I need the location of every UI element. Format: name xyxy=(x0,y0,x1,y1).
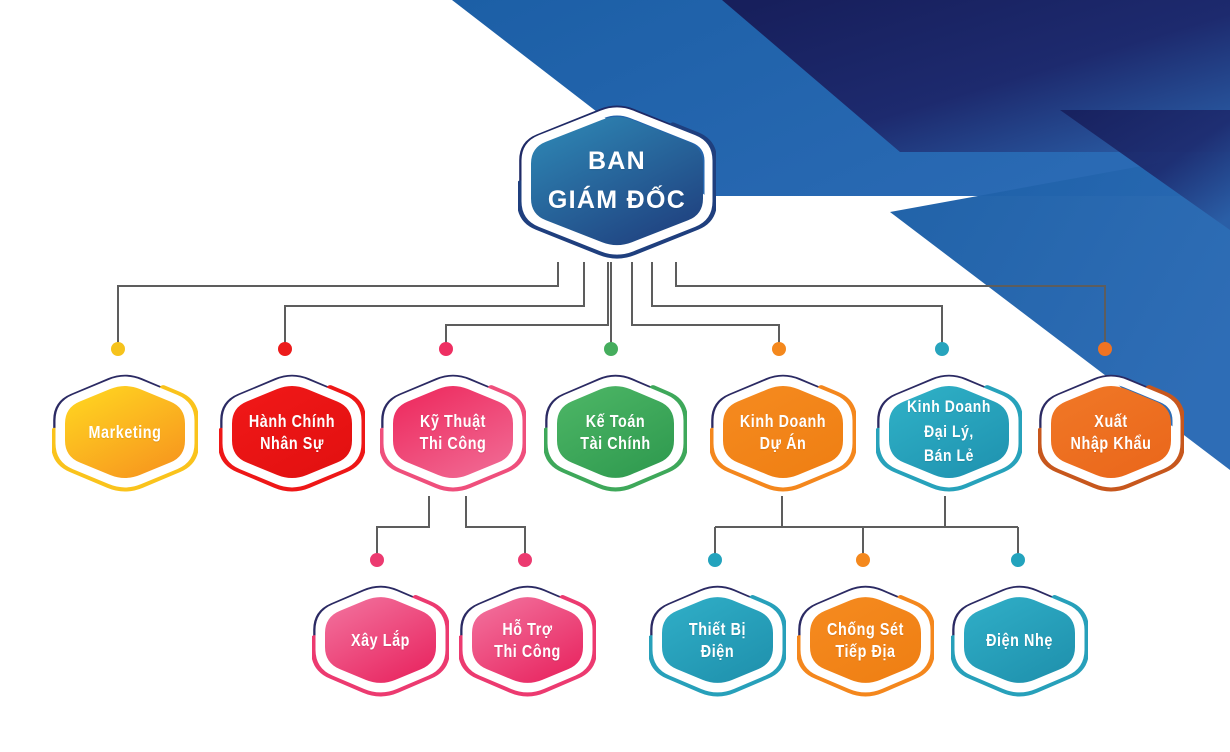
wire-root-hanh-chinh xyxy=(285,262,584,349)
hexagon-shape xyxy=(380,370,526,494)
wire-kythuat-xay-lap xyxy=(377,496,429,560)
org-node-thiet-bi-dien[interactable]: Thiết BịĐiện xyxy=(649,581,786,699)
hexagon-fill xyxy=(65,386,185,478)
wire-kythuat-ho-tro xyxy=(466,496,525,560)
wires-level2 xyxy=(118,262,1105,349)
org-node-ho-tro-thi-cong[interactable]: Hỗ TrợThi Công xyxy=(459,581,596,699)
hexagon-shape xyxy=(876,370,1022,494)
connector-dot-ke-toan-tai-chinh xyxy=(604,342,618,356)
connector-dot-ky-thuat-thi-cong xyxy=(439,342,453,356)
org-node-marketing[interactable]: Marketing xyxy=(52,370,198,494)
connector-dot-kinh-doanh-dai-ly-ban-le xyxy=(935,342,949,356)
hexagon-shape xyxy=(312,581,449,699)
org-node-ky-thuat-thi-cong[interactable]: Kỹ ThuậtThi Công xyxy=(380,370,526,494)
hexagon-shape xyxy=(1038,370,1184,494)
hexagon-shape xyxy=(951,581,1088,699)
hexagon-shape xyxy=(797,581,934,699)
hexagon-fill xyxy=(393,386,513,478)
org-node-chong-set-tiep-dia[interactable]: Chống SétTiếp Địa xyxy=(797,581,934,699)
hexagon-fill xyxy=(810,597,921,683)
org-node-xay-lap[interactable]: Xây Lắp xyxy=(312,581,449,699)
connector-dot-dien-nhe xyxy=(1011,553,1025,567)
wire-root-kinh-doanh-dai-ly xyxy=(652,262,942,349)
connector-dot-xay-lap xyxy=(370,553,384,567)
hexagon-fill xyxy=(325,597,436,683)
hexagon-fill xyxy=(557,386,674,478)
hexagon-fill xyxy=(232,386,352,478)
hexagon-fill xyxy=(472,597,583,683)
hexagon-shape xyxy=(52,370,198,494)
connector-dot-kinh-doanh-du-an xyxy=(772,342,786,356)
hexagon-shape xyxy=(518,101,716,261)
hexagon-fill xyxy=(723,386,843,478)
wires-level3-ky-thuat xyxy=(377,496,525,560)
org-node-xuat-nhap-khau[interactable]: XuấtNhập Khẩu xyxy=(1038,370,1184,494)
hexagon-shape xyxy=(459,581,596,699)
wires-level3-kinh-doanh xyxy=(715,496,1018,560)
org-chart-canvas: BANGIÁM ĐỐCMarketingHành ChínhNhân SựKỹ … xyxy=(0,0,1230,752)
org-node-dien-nhe[interactable]: Điện Nhẹ xyxy=(951,581,1088,699)
hexagon-shape xyxy=(544,370,687,494)
hexagon-shape xyxy=(649,581,786,699)
connector-dot-hanh-chinh-nhan-su xyxy=(278,342,292,356)
org-node-hanh-chinh-nhan-su[interactable]: Hành ChínhNhân Sự xyxy=(219,370,365,494)
connector-dot-marketing xyxy=(111,342,125,356)
hexagon-shape xyxy=(219,370,365,494)
org-node-ban-giam-doc[interactable]: BANGIÁM ĐỐC xyxy=(518,101,716,261)
connector-dot-chong-set-tiep-dia xyxy=(856,553,870,567)
org-node-kinh-doanh-dai-ly-ban-le[interactable]: Kinh DoanhĐại Lý,Bán Lẻ xyxy=(876,370,1022,494)
hexagon-fill xyxy=(889,386,1009,478)
org-node-ke-toan-tai-chinh[interactable]: Kế ToánTài Chính xyxy=(544,370,687,494)
hexagon-fill xyxy=(964,597,1075,683)
hexagon-fill xyxy=(1051,386,1171,478)
hexagon-shape xyxy=(710,370,856,494)
connector-dot-xuat-nhap-khau xyxy=(1098,342,1112,356)
org-node-kinh-doanh-du-an[interactable]: Kinh DoanhDự Án xyxy=(710,370,856,494)
connector-dot-thiet-bi-dien xyxy=(708,553,722,567)
hexagon-fill xyxy=(662,597,773,683)
connector-dot-ho-tro-thi-cong xyxy=(518,553,532,567)
